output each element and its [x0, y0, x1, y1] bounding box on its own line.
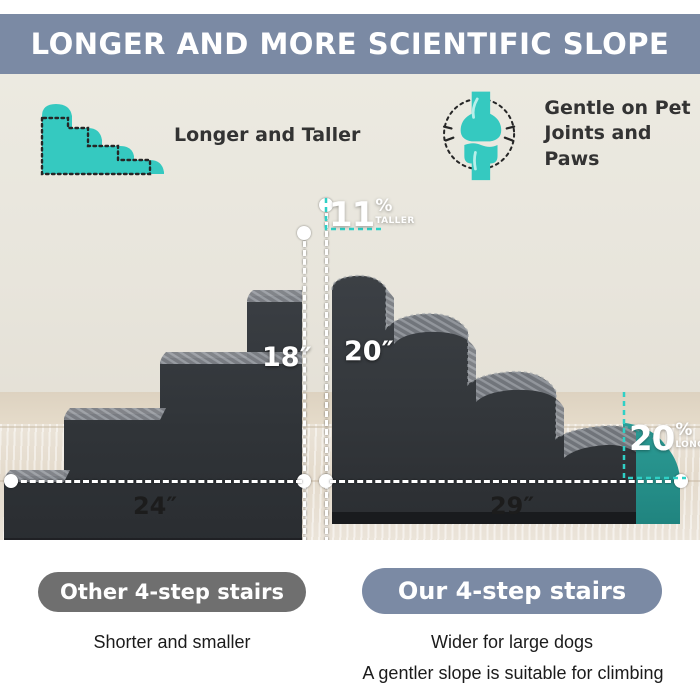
other-stairs-pill-label: Other 4-step stairs: [60, 580, 284, 604]
other-height-label: 18″: [262, 342, 312, 373]
taller-badge-symbol: %: [375, 198, 392, 215]
product-scene: 18″ 24″ 20″ 29″ 11 % TALLER 20: [0, 74, 700, 540]
other-width-line: [12, 480, 302, 483]
our-stairs-body: [332, 276, 636, 524]
taller-badge-word: TALLER: [375, 217, 414, 226]
our-stairs-pill[interactable]: Our 4-step stairs: [362, 568, 662, 614]
our-stairs-pill-label: Our 4-step stairs: [398, 577, 626, 605]
longer-badge-word: LONGER: [675, 441, 700, 450]
other-stairs-captions: Shorter and smaller: [14, 632, 330, 653]
our-height-label: 20″: [344, 336, 394, 367]
feature-gentle-joints: Gentle on Pet Joints and Paws: [433, 84, 700, 184]
longer-badge-symbol: %: [675, 422, 692, 439]
header-banner: LONGER AND MORE SCIENTIFIC SLOPE: [0, 14, 700, 74]
feature-gentle-joints-line2: Joints and Paws: [544, 121, 700, 171]
taller-badge: 11 % TALLER: [329, 198, 415, 232]
other-stairs-caption-1: Shorter and smaller: [14, 632, 330, 653]
our-stairs-caption-1: Wider for large dogs: [362, 632, 662, 653]
other-stairs-pill[interactable]: Other 4-step stairs: [38, 572, 306, 612]
page-title: LONGER AND MORE SCIENTIFIC SLOPE: [31, 27, 670, 61]
longer-badge-number: 20: [629, 422, 674, 456]
other-tread-top: [247, 290, 302, 302]
taller-badge-number: 11: [329, 198, 374, 232]
other-tread-3: [64, 408, 166, 420]
feature-gentle-joints-line1: Gentle on Pet: [544, 96, 700, 121]
other-height-line: [303, 232, 306, 540]
feature-gentle-joints-label: Gentle on Pet Joints and Paws: [544, 96, 700, 171]
our-width-label: 29″: [490, 492, 534, 520]
other-height-dot-top: [297, 226, 311, 240]
joint-icon: [433, 84, 534, 184]
other-width-label: 24″: [133, 492, 177, 520]
our-stairs-caption-2: A gentler slope is suitable for climbing: [348, 663, 678, 684]
our-stairs-captions: Wider for large dogs A gentler slope is …: [362, 632, 662, 674]
longer-badge: 20 % LONGER: [629, 422, 700, 456]
feature-longer-taller-label: Longer and Taller: [174, 123, 360, 148]
infographic-page: LONGER AND MORE SCIENTIFIC SLOPE: [0, 0, 700, 700]
our-stairs-product: [318, 194, 700, 540]
other-width-dot-left: [4, 474, 18, 488]
feature-longer-taller: Longer and Taller: [26, 96, 360, 176]
stairs-icon: [26, 96, 166, 176]
other-base-shadow: [4, 538, 302, 540]
our-height-line: [325, 204, 328, 540]
our-base-shadow: [332, 512, 636, 524]
